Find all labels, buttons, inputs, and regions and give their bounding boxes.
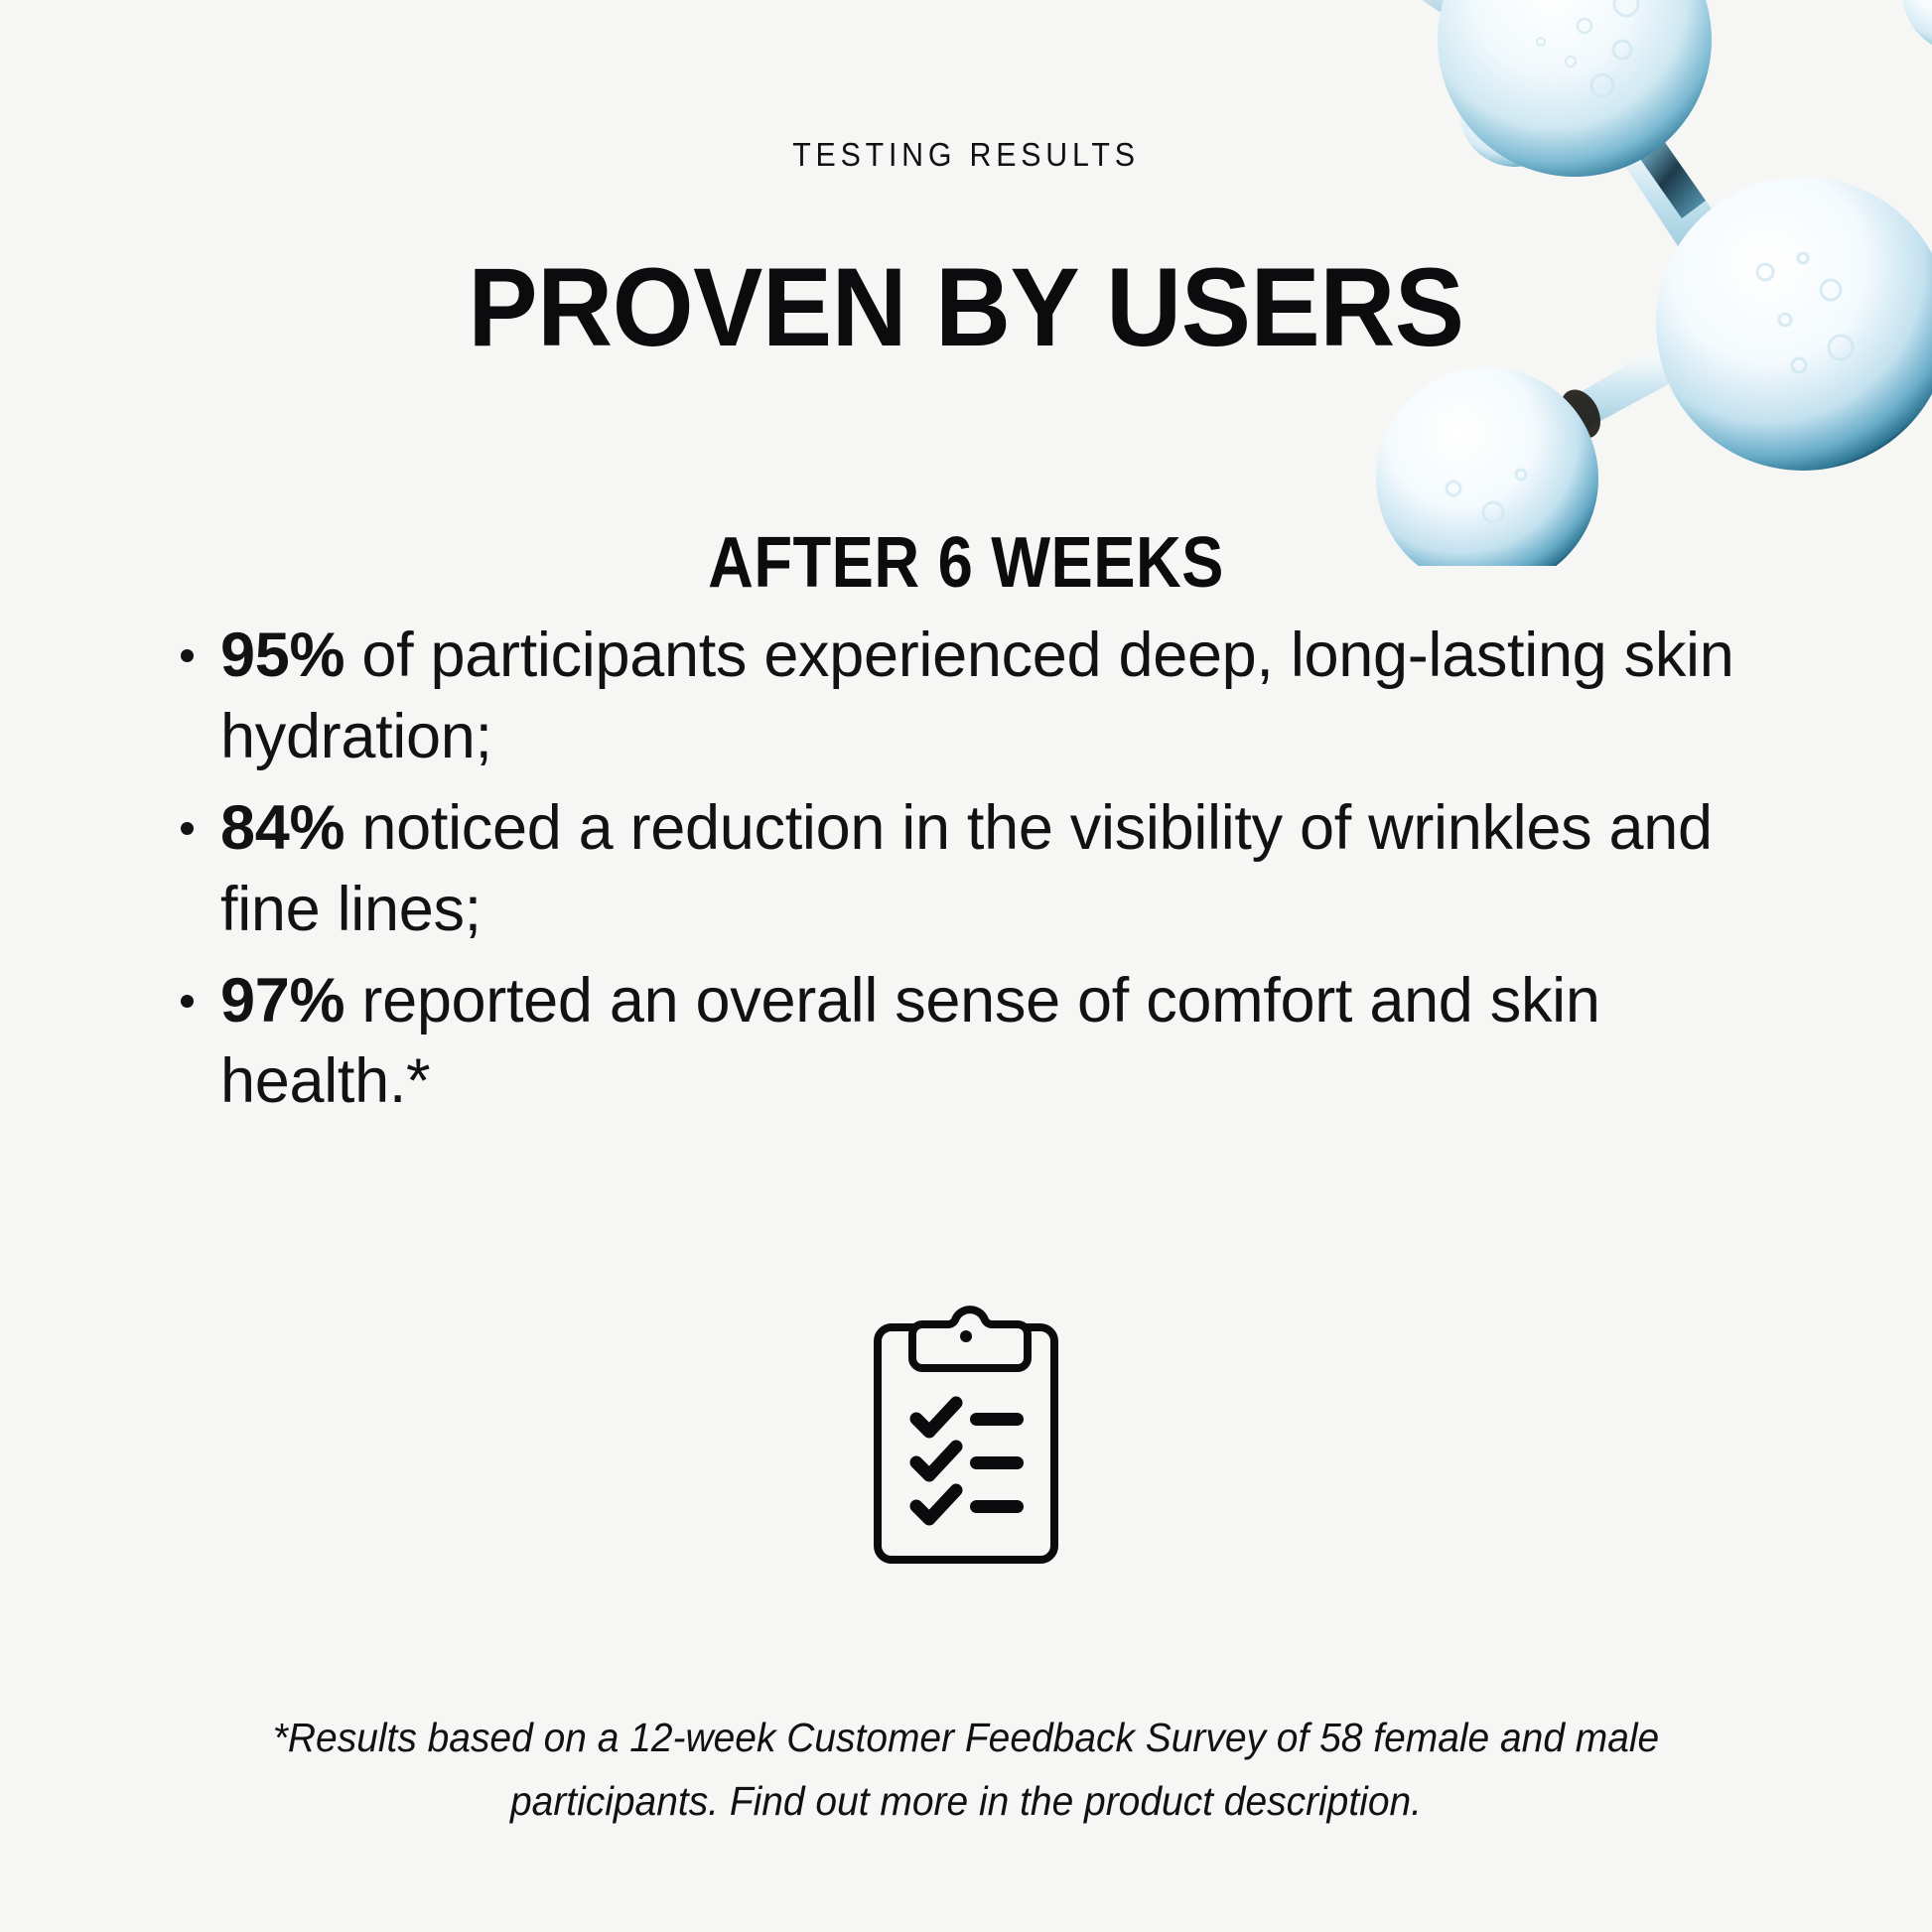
poster-canvas: TESTING RESULTS PROVEN BY USERS AFTER 6 … [0, 0, 1932, 1932]
stat-text: of participants experienced deep, long-l… [220, 621, 1733, 771]
eyebrow-label: TESTING RESULTS [77, 136, 1855, 174]
results-list: 95% of participants experienced deep, lo… [175, 616, 1803, 1133]
bullet-dot-icon [181, 822, 194, 835]
bullet-dot-icon [181, 649, 194, 662]
stat-text: noticed a reduction in the visibility of… [220, 793, 1713, 944]
list-item: 97% reported an overall sense of comfort… [175, 961, 1803, 1124]
stat-percent: 97% [220, 966, 345, 1035]
stat-percent: 95% [220, 621, 345, 690]
clipboard-icon-container [0, 1303, 1932, 1567]
footnote-text: *Results based on a 12-week Customer Fee… [208, 1707, 1724, 1833]
molecule-sphere-small [1336, 0, 1455, 12]
page-title: PROVEN BY USERS [58, 249, 1873, 366]
bullet-dot-icon [181, 995, 194, 1008]
clipboard-checklist-icon [871, 1303, 1061, 1567]
stat-percent: 84% [220, 793, 345, 863]
stat-text: reported an overall sense of comfort and… [220, 966, 1600, 1117]
list-item: 95% of participants experienced deep, lo… [175, 616, 1803, 778]
section-subtitle: AFTER 6 WEEKS [116, 522, 1816, 604]
list-item: 84% noticed a reduction in the visibilit… [175, 788, 1803, 951]
molecule-sphere-small [1902, 0, 1932, 54]
